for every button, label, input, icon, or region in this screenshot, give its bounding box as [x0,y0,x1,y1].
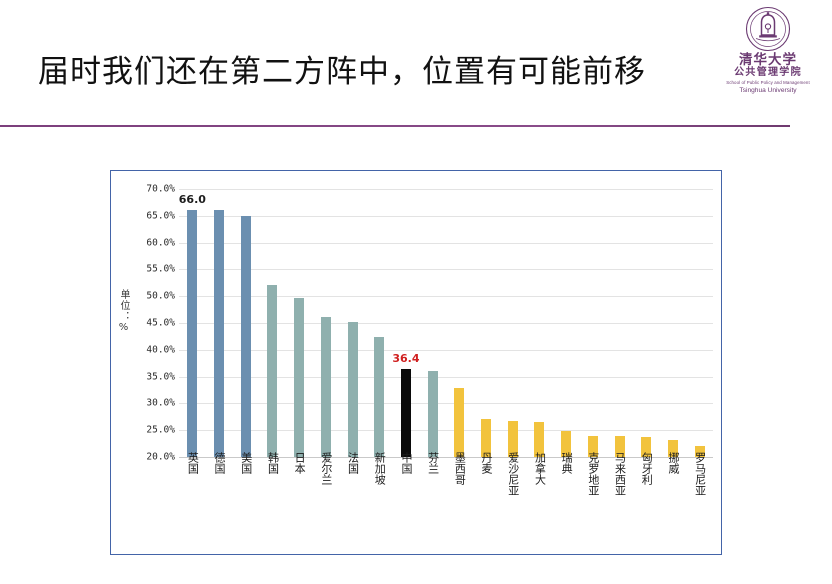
x-axis-tick: 加拿大 [526,452,553,490]
bar-slot [259,189,286,457]
logo-school-name-en: School of Public Policy and Management [720,79,816,86]
bar-slot [286,189,313,457]
bar-slot [606,189,633,457]
bar-slot [419,189,446,457]
x-axis-tick: 法国 [339,452,366,479]
x-axis-tick: 马来西亚 [606,452,633,501]
bar-slot [232,189,259,457]
x-axis-tick: 芬兰 [419,452,446,479]
x-axis-tick-label: 马来西亚 [614,452,626,496]
x-axis-tick-label: 芬兰 [427,452,439,474]
chart-bar[interactable] [187,210,197,457]
x-axis-tick: 德国 [206,452,233,479]
x-axis-tick-label: 丹麦 [480,452,492,474]
x-axis-tick: 中国 [393,452,420,479]
x-axis-tick-label: 克罗地亚 [587,452,599,496]
chart-plot-wrapper: 单位：% 70.0%65.0%60.0%55.0%50.0%45.0%40.0%… [111,171,721,554]
x-axis-category-labels: 英国德国美国韩国日本爱尔兰法国新加坡中国芬兰墨西哥丹麦爱沙尼亚加拿大瑞典克罗地亚… [179,452,713,544]
bar-slot [313,189,340,457]
y-axis-tick: 45.0% [146,318,175,329]
x-axis-tick-label: 爱沙尼亚 [507,452,519,496]
bar-slot [633,189,660,457]
chart-bar[interactable] [348,322,358,457]
y-axis-tick: 70.0% [146,184,175,195]
x-axis-tick-label: 韩国 [266,452,278,474]
bar-value-label: 66.0 [179,193,206,206]
x-axis-tick-label: 日本 [293,452,305,474]
bar-slot [339,189,366,457]
chart-bar[interactable] [321,317,331,457]
x-axis-tick: 英国 [179,452,206,479]
x-axis-tick-label: 墨西哥 [453,452,465,485]
bar-slot [366,189,393,457]
bar-value-label: 36.4 [392,352,419,365]
logo-university-name-cn: 清华大学 [720,53,816,67]
chart-container: 单位：% 70.0%65.0%60.0%55.0%50.0%45.0%40.0%… [110,170,722,555]
x-axis-tick: 挪威 [660,452,687,479]
y-axis-tick-labels: 70.0%65.0%60.0%55.0%50.0%45.0%40.0%35.0%… [129,171,177,554]
x-axis-tick: 新加坡 [366,452,393,490]
y-axis-tick: 35.0% [146,371,175,382]
x-axis-tick: 匈牙利 [633,452,660,490]
bars-layer: 66.036.4 [179,189,713,457]
x-axis-tick: 罗马尼亚 [686,452,713,501]
x-axis-tick: 韩国 [259,452,286,479]
x-axis-tick-label: 瑞典 [560,452,572,474]
x-axis-tick-label: 法国 [347,452,359,474]
title-divider [0,125,790,127]
bar-slot [499,189,526,457]
x-axis-tick-label: 德国 [213,452,225,474]
x-axis-tick-label: 罗马尼亚 [694,452,706,496]
x-axis-tick: 美国 [232,452,259,479]
x-axis-tick: 日本 [286,452,313,479]
chart-bar[interactable] [401,369,411,457]
x-axis-tick-label: 加拿大 [533,452,545,485]
chart-bar[interactable] [241,216,251,457]
x-axis-tick: 爱尔兰 [313,452,340,490]
x-axis-tick: 丹麦 [473,452,500,479]
x-axis-tick-label: 匈牙利 [640,452,652,485]
bar-slot [580,189,607,457]
logo-school-name-cn: 公共管理学院 [720,67,816,79]
bar-slot [473,189,500,457]
x-axis-tick-label: 美国 [240,452,252,474]
tsinghua-sppm-logo: 清华大学 公共管理学院 School of Public Policy and … [720,4,816,108]
x-axis-tick-label: 英国 [186,452,198,474]
bar-slot: 36.4 [393,189,420,457]
y-axis-tick: 25.0% [146,425,175,436]
x-axis-tick-label: 新加坡 [373,452,385,485]
x-axis-tick: 爱沙尼亚 [499,452,526,501]
bar-slot [553,189,580,457]
chart-bar[interactable] [428,371,438,457]
chart-bar[interactable] [214,210,224,457]
x-axis-tick: 墨西哥 [446,452,473,490]
y-axis-tick: 40.0% [146,344,175,355]
x-axis-tick-label: 挪威 [667,452,679,474]
chart-bar[interactable] [454,388,464,457]
y-axis-tick: 60.0% [146,237,175,248]
bar-slot [660,189,687,457]
y-axis-tick: 30.0% [146,398,175,409]
chart-bar[interactable] [294,298,304,457]
chart-bar[interactable] [374,337,384,457]
bar-slot [446,189,473,457]
bar-slot [206,189,233,457]
x-axis-tick-label: 爱尔兰 [320,452,332,485]
plot-area: 66.036.4 [179,189,713,457]
y-axis-tick: 65.0% [146,210,175,221]
slide-header: 届时我们还在第二方阵中，位置有可能前移 [0,0,832,122]
chart-bar[interactable] [267,285,277,457]
bar-slot [526,189,553,457]
x-axis-tick-label: 中国 [400,452,412,474]
logo-university-name-en: Tsinghua University [720,86,816,95]
page-title: 届时我们还在第二方阵中，位置有可能前移 [38,46,646,91]
y-axis-tick: 20.0% [146,452,175,463]
bar-slot [686,189,713,457]
x-axis-tick: 瑞典 [553,452,580,479]
y-axis-tick: 50.0% [146,291,175,302]
bar-slot: 66.0 [179,189,206,457]
y-axis-tick: 55.0% [146,264,175,275]
university-seal-icon [745,6,791,52]
x-axis-tick: 克罗地亚 [580,452,607,501]
